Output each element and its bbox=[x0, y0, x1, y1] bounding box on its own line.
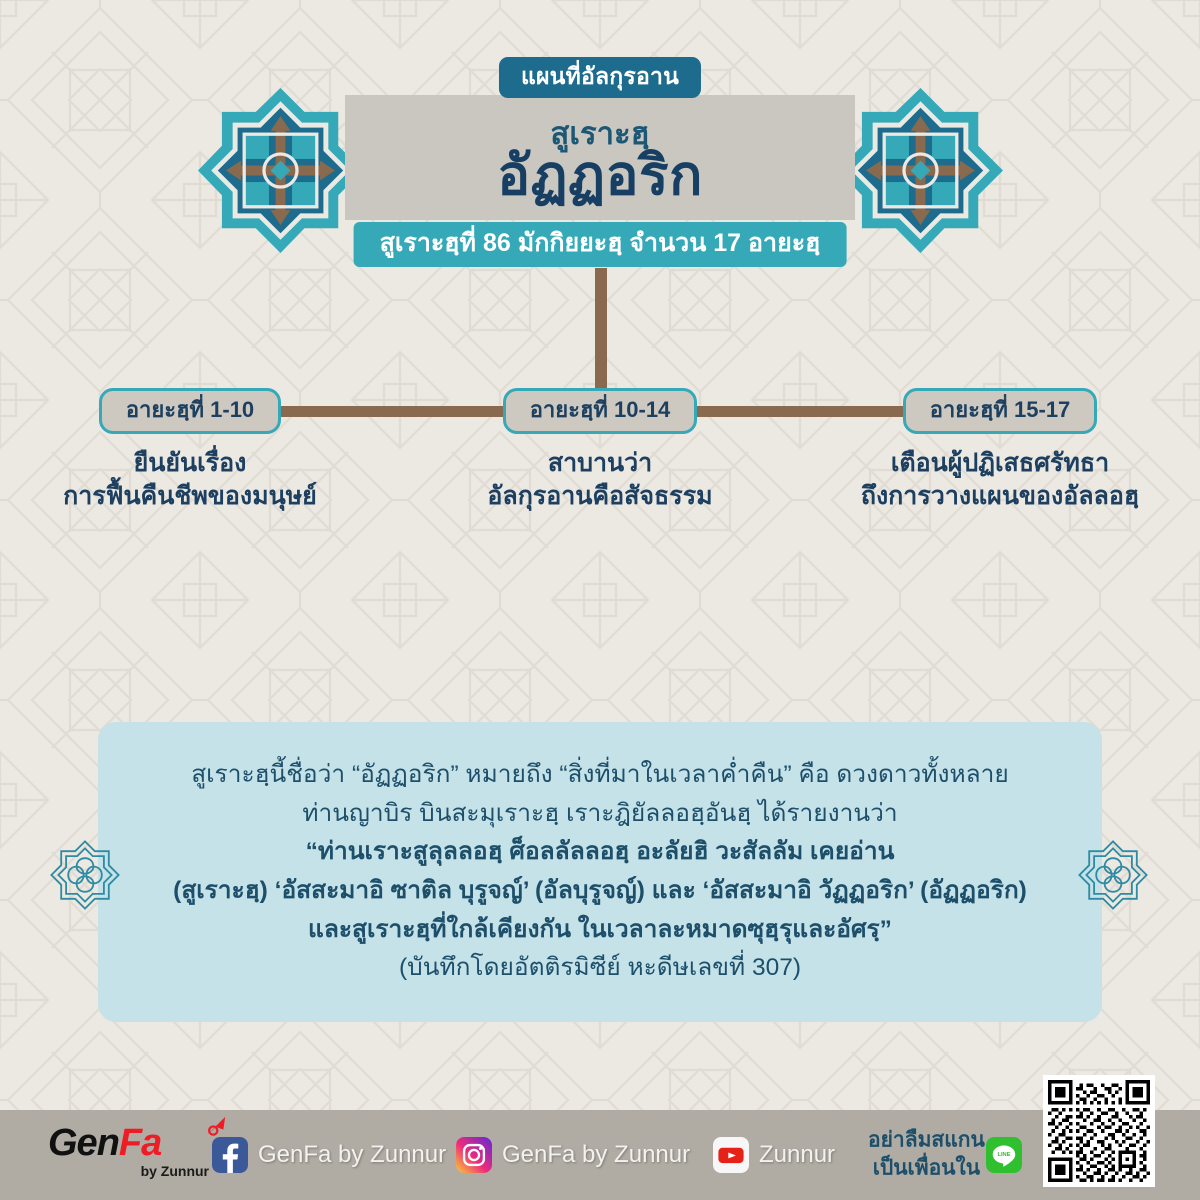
social-facebook-label: GenFa by Zunnur bbox=[258, 1141, 446, 1169]
brand-logo: GenFa by Zunnur bbox=[48, 1124, 213, 1179]
eight-point-star-ornament-right bbox=[838, 88, 1003, 253]
tree-diagram: อายะฮฺที่ 1-10 ยืนยันเรื่อง การฟื้นคืนชี… bbox=[0, 260, 1200, 550]
kicker-badge: แผนที่อัลกุรอาน bbox=[499, 57, 701, 98]
scan-note: อย่าลืมสแกน เป็นเพื่อนใน bbox=[868, 1127, 985, 1184]
branch-group-1: อายะฮฺที่ 1-10 ยืนยันเรื่อง การฟื้นคืนชี… bbox=[40, 388, 340, 513]
branch-description-2: สาบานว่า อัลกุรอานคือสัจธรรม bbox=[450, 447, 750, 513]
branch-chip-2[interactable]: อายะฮฺที่ 10-14 bbox=[503, 388, 698, 434]
info-line-1: สูเราะฮฺนี้ชื่อว่า “อัฏฏอริก” หมายถึง “ส… bbox=[191, 756, 1009, 795]
branch-chip-3[interactable]: อายะฮฺที่ 15-17 bbox=[903, 388, 1098, 434]
youtube-icon[interactable] bbox=[713, 1137, 749, 1173]
social-youtube[interactable]: Zunnur bbox=[713, 1137, 835, 1173]
eight-point-star-outline-ornament-left bbox=[50, 840, 120, 910]
info-line-3: “ท่านเราะสูลุลลอฮฺ ศ็อลลัลลอฮฺ อะลัยฮิ ว… bbox=[306, 833, 895, 872]
page-title: อัฏฏอริก bbox=[497, 148, 703, 203]
branch-chip-1[interactable]: อายะฮฺที่ 1-10 bbox=[99, 388, 281, 434]
eight-point-star-ornament-left bbox=[198, 88, 363, 253]
social-line[interactable]: LINE bbox=[986, 1137, 1022, 1173]
qr-code[interactable] bbox=[1043, 1075, 1155, 1187]
line-icon[interactable]: LINE bbox=[986, 1137, 1022, 1173]
branch-group-2: อายะฮฺที่ 10-14 สาบานว่า อัลกุรอานคือสัจ… bbox=[450, 388, 750, 513]
info-line-5: และสูเราะฮฺที่ใกล้เคียงกัน ในเวลาละหมาดซ… bbox=[308, 911, 892, 950]
info-line-2: ท่านญาบิร บินสะมุเราะฮฺ เราะฎิยัลลอฮฺอัน… bbox=[302, 795, 897, 834]
branch-group-3: อายะฮฺที่ 15-17 เตือนผู้ปฏิเสธศรัทธา ถึง… bbox=[850, 388, 1150, 513]
subtitle-bar: สูเราะฮฺที่ 86 มักกิยยะฮฺ จำนวน 17 อายะฮ… bbox=[354, 222, 847, 267]
instagram-icon[interactable] bbox=[456, 1137, 492, 1173]
social-instagram[interactable]: GenFa by Zunnur bbox=[456, 1137, 690, 1173]
header-zone: สูเราะฮฺ อัฏฏอริก แผนที่อัลกุรอาน สูเราะ… bbox=[0, 0, 1200, 300]
facebook-icon[interactable] bbox=[212, 1137, 248, 1173]
info-line-4: (สูเราะฮฺ) ‘อัสสะมาอิ ซาติล บุรูจญ์’ (อั… bbox=[173, 872, 1027, 911]
eight-point-star-outline-ornament-right bbox=[1078, 840, 1148, 910]
info-box: สูเราะฮฺนี้ชื่อว่า “อัฏฏอริก” หมายถึง “ส… bbox=[98, 722, 1102, 1022]
brand-fa-text: Fa bbox=[119, 1122, 161, 1164]
info-line-6-source: (บันทึกโดยอัตติรมิซีย์ หะดีษเลขที่ 307) bbox=[399, 949, 801, 988]
svg-text:LINE: LINE bbox=[997, 1152, 1010, 1158]
brand-gen-text: Gen bbox=[48, 1122, 119, 1164]
footer-bar: GenFa by Zunnur GenFa by Zunnur bbox=[0, 1110, 1200, 1200]
branch-description-3: เตือนผู้ปฏิเสธศรัทธา ถึงการวางแผนของอัลล… bbox=[850, 447, 1150, 513]
social-facebook[interactable]: GenFa by Zunnur bbox=[212, 1137, 446, 1173]
infographic-page: สูเราะฮฺ อัฏฏอริก แผนที่อัลกุรอาน สูเราะ… bbox=[0, 0, 1200, 1200]
qr-code-image bbox=[1048, 1080, 1150, 1182]
social-youtube-label: Zunnur bbox=[759, 1141, 835, 1169]
brand-wordmark: GenFa bbox=[48, 1124, 213, 1162]
cursor-arrow-icon bbox=[205, 1115, 227, 1137]
social-instagram-label: GenFa by Zunnur bbox=[502, 1141, 690, 1169]
brand-tagline: by Zunnur bbox=[48, 1163, 213, 1179]
branch-description-1: ยืนยันเรื่อง การฟื้นคืนชีพของมนุษย์ bbox=[40, 447, 340, 513]
title-banner: สูเราะฮฺ อัฏฏอริก bbox=[345, 95, 855, 220]
